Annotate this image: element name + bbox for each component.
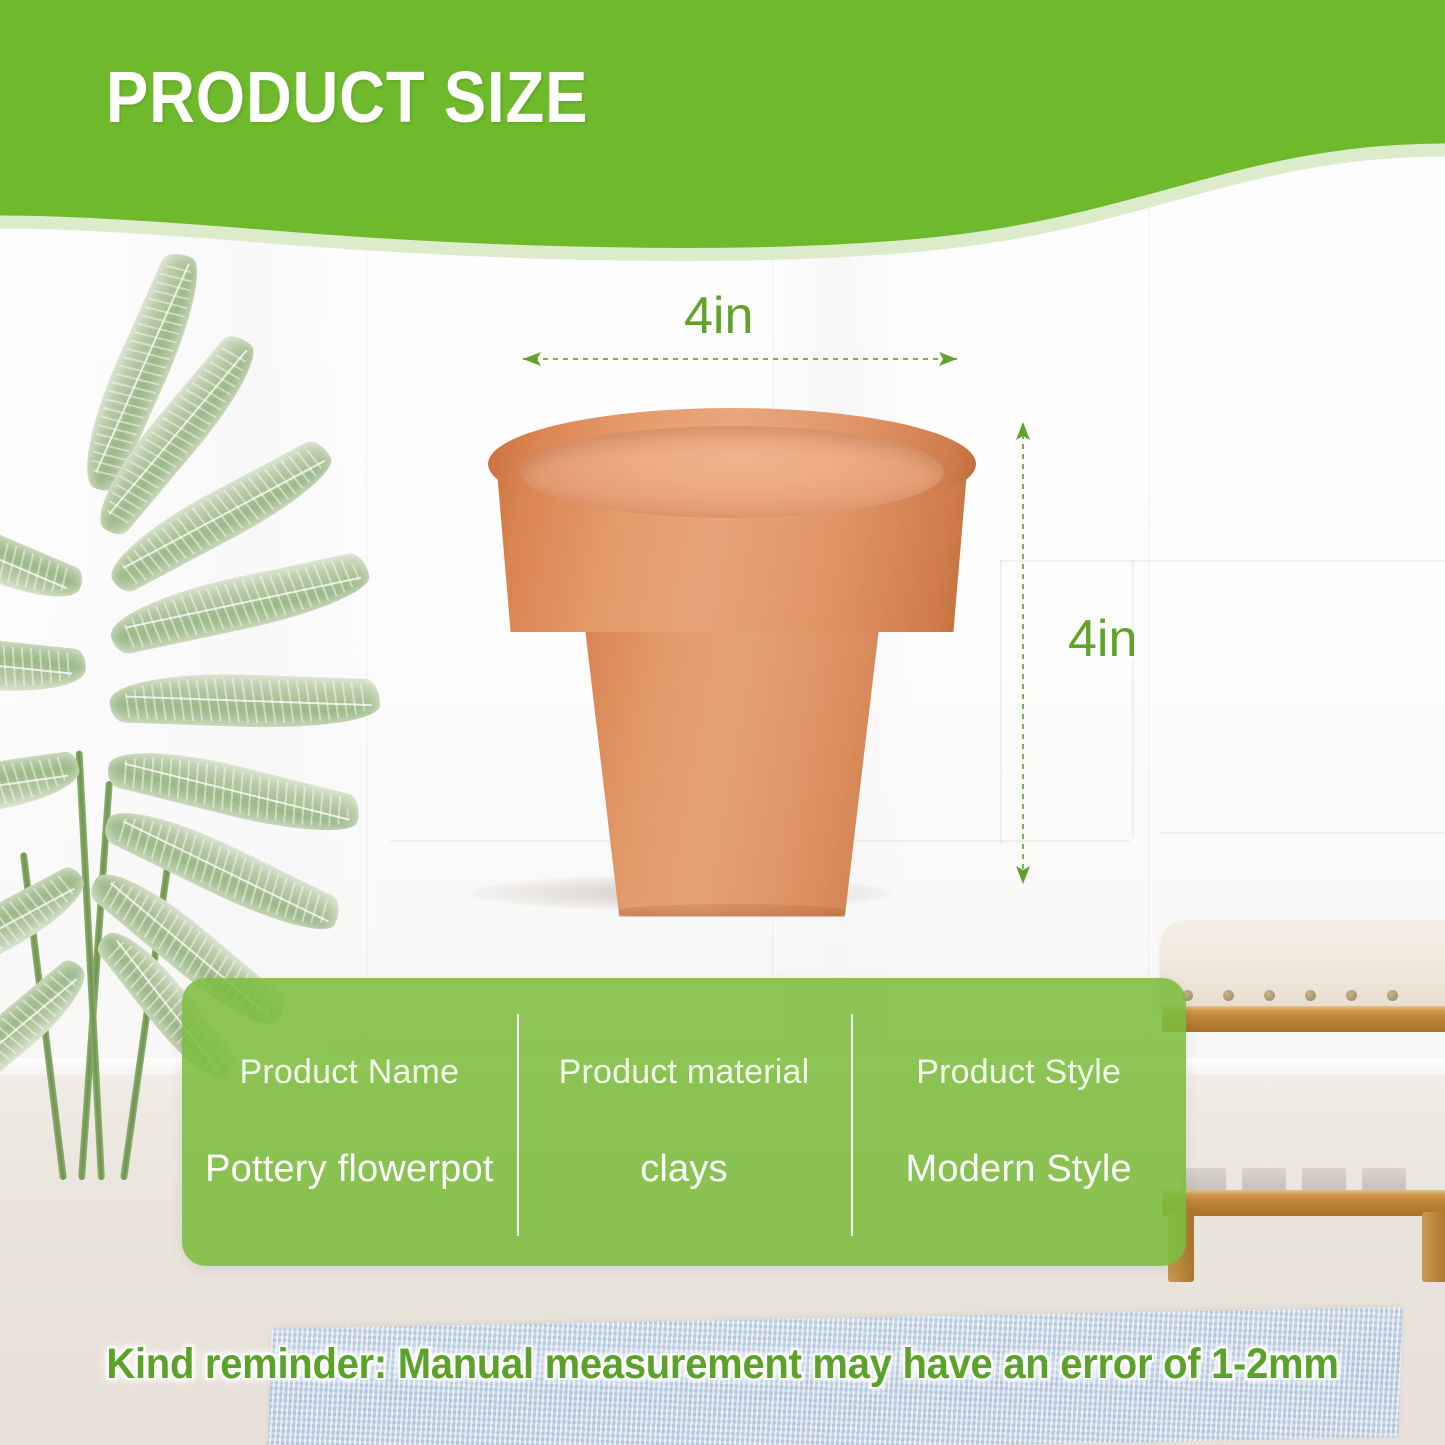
spec-column-product-material: Product material clays: [517, 978, 852, 1266]
bench-stud: [1305, 990, 1316, 1001]
arrow-left-icon: [523, 352, 541, 366]
spec-header: Product material: [559, 1053, 810, 1092]
bench-stud: [1264, 990, 1275, 1001]
measurement-reminder: Kind reminder: Manual measurement may ha…: [51, 1340, 1395, 1389]
spec-value: clays: [640, 1148, 728, 1191]
height-dimension-label: 4in: [1068, 613, 1137, 665]
bench-stud: [1346, 990, 1357, 1001]
plant-leaf: [0, 496, 87, 615]
spec-column-product-style: Product Style Modern Style: [851, 978, 1186, 1266]
bench-frame-rail: [1162, 1006, 1445, 1032]
arrow-right-icon: [939, 352, 957, 366]
plant-leaf: [109, 670, 381, 731]
bench-stud: [1387, 990, 1398, 1001]
pot-inner-cavity: [520, 426, 944, 518]
product-size-infographic: 4in 4in PRODUCT SIZE Product Name Potter…: [0, 0, 1445, 1445]
wall-panel-moulding: [1132, 560, 1134, 835]
terracotta-flowerpot: [486, 408, 978, 920]
spec-value: Modern Style: [906, 1148, 1132, 1191]
plant-leaf: [0, 750, 83, 825]
bench-stud: [1223, 990, 1234, 1001]
spec-header: Product Style: [916, 1053, 1121, 1092]
plant-leaf: [0, 628, 88, 700]
bench-leg: [1422, 1212, 1445, 1282]
spec-table: Product Name Pottery flowerpot Product m…: [182, 978, 1186, 1266]
spec-header: Product Name: [239, 1053, 459, 1092]
spec-value: Pottery flowerpot: [205, 1148, 494, 1191]
width-dimension-label: 4in: [684, 290, 753, 342]
bench-studs: [1182, 990, 1445, 1002]
bench-frame-rail: [1162, 1190, 1445, 1216]
spec-column-product-name: Product Name Pottery flowerpot: [182, 978, 517, 1266]
wall-panel-moulding: [1000, 560, 1445, 562]
wall-panel-moulding: [1160, 832, 1445, 834]
height-dimension-line: [1000, 408, 1046, 898]
